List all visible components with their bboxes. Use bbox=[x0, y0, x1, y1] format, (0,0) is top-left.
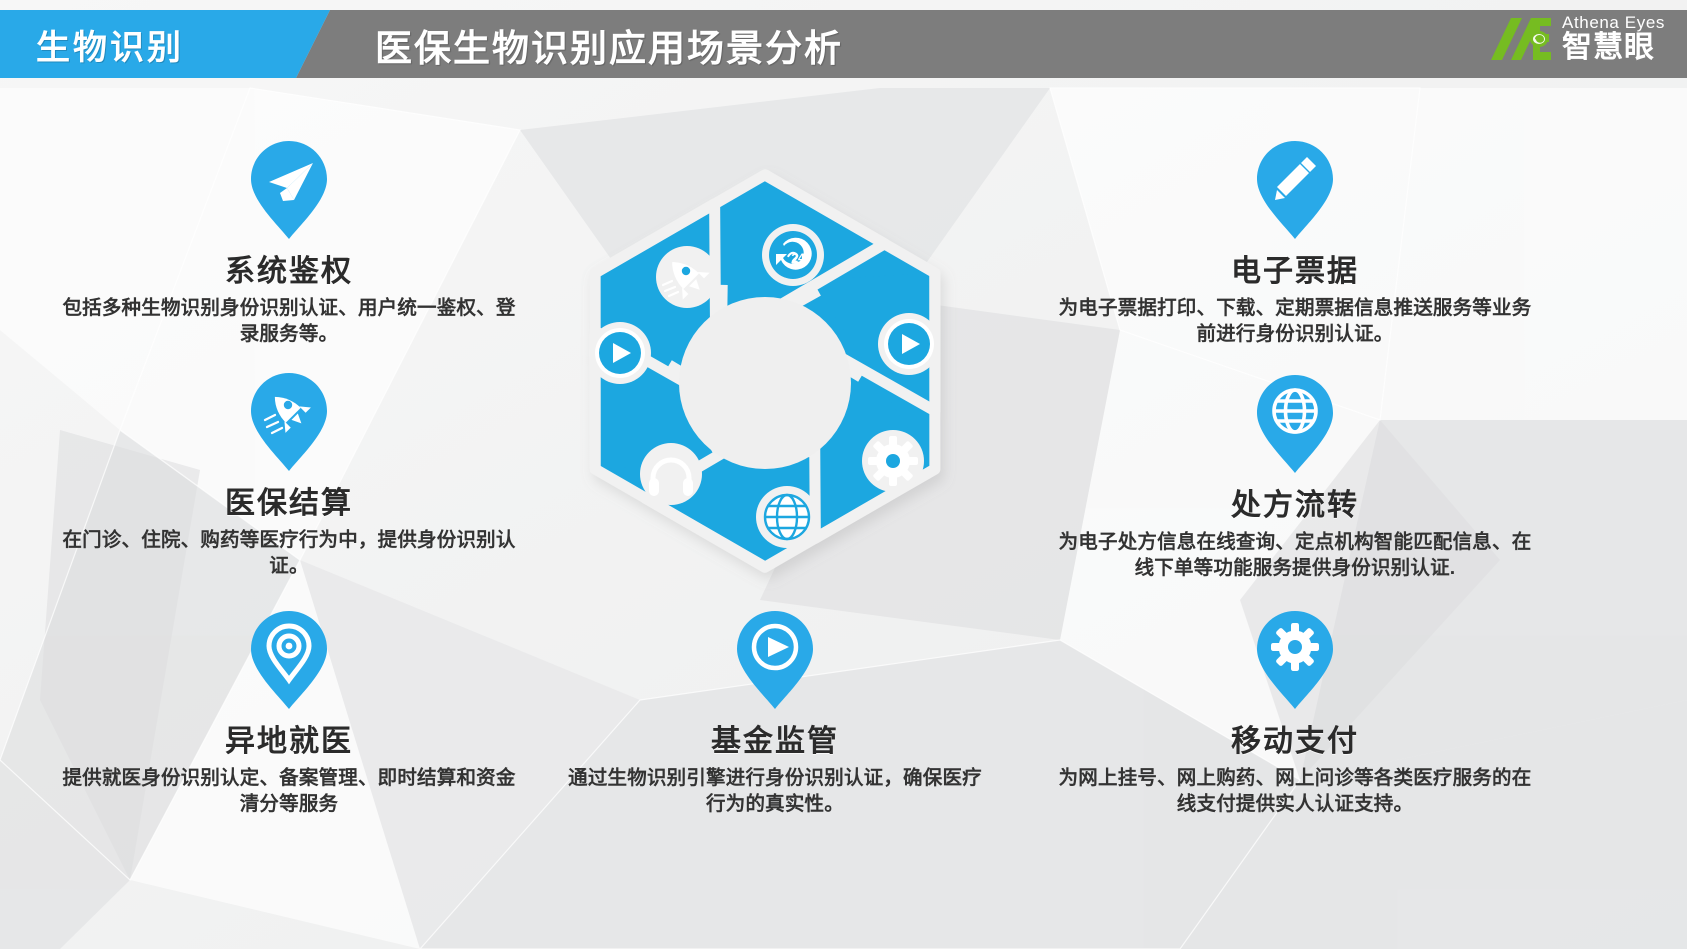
card-title: 电子票据 bbox=[1050, 246, 1540, 290]
rocket-icon bbox=[247, 370, 331, 474]
card-description: 为电子处方信息在线查询、定点机构智能匹配信息、在线下单等功能服务提供身份识别认证… bbox=[1050, 529, 1540, 581]
athena-eyes-ae-mark bbox=[1489, 16, 1553, 62]
card-description: 包括多种生物识别身份识别认证、用户统一鉴权、登录服务等。 bbox=[54, 295, 524, 347]
card-description: 提供就医身份识别认定、备案管理、即时结算和资金清分等服务 bbox=[54, 765, 524, 817]
pin-wrap bbox=[1050, 608, 1540, 712]
card-title: 移动支付 bbox=[1050, 716, 1540, 760]
rocket-icon bbox=[656, 246, 718, 308]
hexagon-pinwheel-diagram: 24 bbox=[520, 126, 1010, 596]
scenario-card-electronic-bill[interactable]: 电子票据 为电子票据打印、下载、定期票据信息推送服务等业务前进行身份识别认证。 bbox=[1050, 138, 1540, 347]
pin-wrap bbox=[54, 370, 524, 474]
play-circle-icon bbox=[733, 608, 817, 712]
pin-wrap bbox=[1050, 372, 1540, 476]
pin-wrap bbox=[560, 608, 990, 712]
play-circle-icon bbox=[589, 322, 651, 384]
play-circle-icon bbox=[878, 313, 940, 375]
scenario-card-medical-insurance-settlement[interactable]: 医保结算 在门诊、住院、购药等医疗行为中，提供身份识别认证。 bbox=[54, 370, 524, 579]
company-logo: Athena Eyes 智慧眼 bbox=[1489, 14, 1665, 63]
pin-wrap bbox=[1050, 138, 1540, 242]
logo-chinese-name: 智慧眼 bbox=[1562, 33, 1665, 63]
svg-text:24: 24 bbox=[791, 251, 805, 265]
page-header: 生物识别 医保生物识别应用场景分析 Athena Eyes 智慧眼 bbox=[0, 0, 1687, 88]
scenario-card-offsite-medical-treatment[interactable]: 异地就医 提供就医身份识别认定、备案管理、即时结算和资金清分等服务 bbox=[54, 608, 524, 817]
scenario-card-fund-supervision[interactable]: 基金监管 通过生物识别引擎进行身份识别认证，确保医疗行为的真实性。 bbox=[560, 608, 990, 817]
card-description: 在门诊、住院、购药等医疗行为中，提供身份识别认证。 bbox=[54, 527, 524, 579]
card-description: 通过生物识别引擎进行身份识别认证，确保医疗行为的真实性。 bbox=[560, 765, 990, 817]
gear-icon bbox=[1253, 608, 1337, 712]
paper-plane-icon bbox=[247, 138, 331, 242]
pencil-icon bbox=[1253, 138, 1337, 242]
card-title: 异地就医 bbox=[54, 716, 524, 760]
phone-24h-icon: 24 bbox=[762, 224, 824, 286]
globe-icon bbox=[1253, 372, 1337, 476]
map-pin-icon bbox=[247, 608, 331, 712]
card-title: 系统鉴权 bbox=[54, 246, 524, 290]
scenario-card-system-auth[interactable]: 系统鉴权 包括多种生物识别身份识别认证、用户统一鉴权、登录服务等。 bbox=[54, 138, 524, 347]
scenario-card-prescription-circulation[interactable]: 处方流转 为电子处方信息在线查询、定点机构智能匹配信息、在线下单等功能服务提供身… bbox=[1050, 372, 1540, 581]
pin-wrap bbox=[54, 138, 524, 242]
scenario-card-mobile-payment[interactable]: 移动支付 为网上挂号、网上购药、网上问诊等各类医疗服务的在线支付提供实人认证支持… bbox=[1050, 608, 1540, 817]
logo-wordmark: Athena Eyes 智慧眼 bbox=[1562, 14, 1665, 63]
card-title: 医保结算 bbox=[54, 478, 524, 522]
card-description: 为网上挂号、网上购药、网上问诊等各类医疗服务的在线支付提供实人认证支持。 bbox=[1050, 765, 1540, 817]
content-stage: 24 bbox=[0, 0, 1687, 949]
card-title: 基金监管 bbox=[560, 716, 990, 760]
headphones-icon bbox=[640, 443, 702, 505]
card-description: 为电子票据打印、下载、定期票据信息推送服务等业务前进行身份识别认证。 bbox=[1050, 295, 1540, 347]
page-title: 医保生物识别应用场景分析 bbox=[375, 18, 843, 72]
pin-wrap bbox=[54, 608, 524, 712]
card-title: 处方流转 bbox=[1050, 480, 1540, 524]
header-category-tag: 生物识别 bbox=[36, 20, 184, 69]
logo-english-name: Athena Eyes bbox=[1562, 14, 1665, 31]
globe-icon bbox=[756, 486, 818, 548]
